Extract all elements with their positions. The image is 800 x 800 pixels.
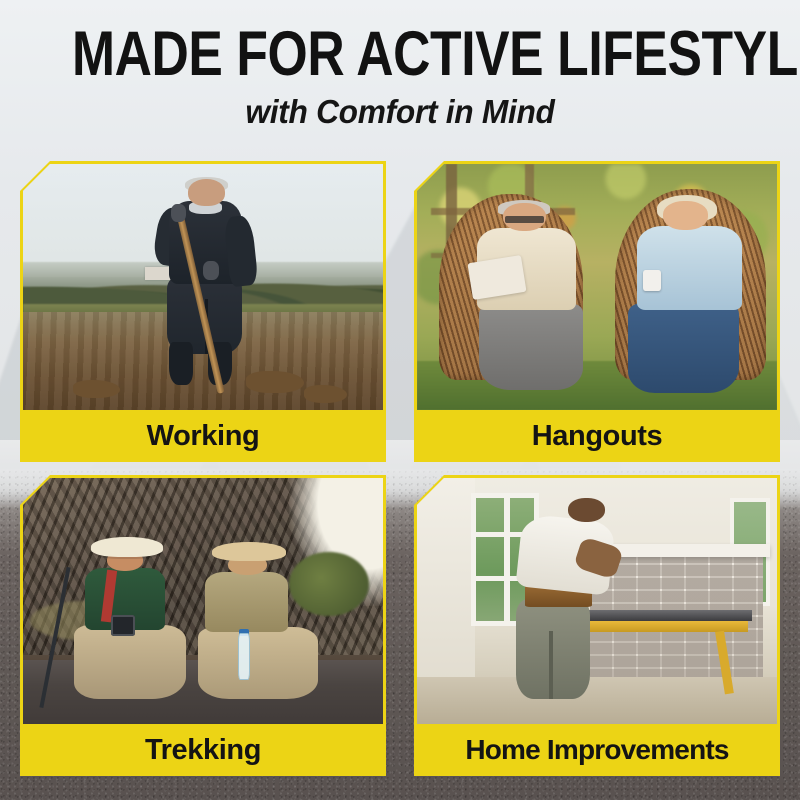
figure-digging-man bbox=[160, 179, 254, 386]
card-label-hangouts: Hangouts bbox=[417, 410, 777, 462]
activity-card-grid: Working bbox=[20, 161, 780, 776]
card-label-home-improvements: Home Improvements bbox=[417, 724, 777, 776]
page-title: MADE FOR ACTIVE LIFESTYLE bbox=[72, 24, 728, 84]
scene-working bbox=[23, 164, 383, 410]
scene-home-improvements bbox=[417, 478, 777, 724]
page-header: MADE FOR ACTIVE LIFESTYLE with Comfort i… bbox=[0, 0, 800, 131]
eyeglasses bbox=[505, 216, 544, 223]
card-photo-trekking bbox=[23, 478, 383, 724]
scene-trekking bbox=[23, 478, 383, 724]
figure-senior-woman bbox=[637, 201, 749, 393]
card-photo-working bbox=[23, 164, 383, 410]
activity-card-hangouts[interactable]: Hangouts bbox=[414, 161, 780, 462]
activity-card-home-improvements[interactable]: Home Improvements bbox=[414, 475, 780, 776]
figure-senior-man bbox=[475, 203, 583, 390]
page-subtitle: with Comfort in Mind bbox=[16, 93, 784, 131]
bucket-hat bbox=[91, 537, 162, 556]
sun-hat bbox=[212, 542, 286, 561]
activity-card-working[interactable]: Working bbox=[20, 161, 386, 462]
activity-card-trekking[interactable]: Trekking bbox=[20, 475, 386, 776]
water-bottle bbox=[238, 633, 251, 680]
camera bbox=[111, 615, 135, 636]
figure-handyman bbox=[514, 498, 622, 700]
card-photo-hangouts bbox=[417, 164, 777, 410]
coffee-cup bbox=[643, 270, 661, 291]
card-label-working: Working bbox=[23, 410, 383, 462]
figure-hiker-right bbox=[203, 542, 318, 699]
scene-hangouts bbox=[417, 164, 777, 410]
figure-hiker-left bbox=[81, 537, 189, 699]
card-photo-home-improvements bbox=[417, 478, 777, 724]
card-label-trekking: Trekking bbox=[23, 724, 383, 776]
